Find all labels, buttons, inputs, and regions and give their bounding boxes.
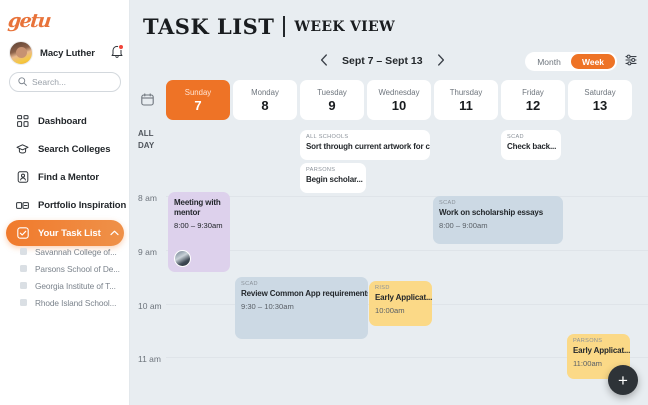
sidebar-item-label: Dashboard [38, 116, 87, 127]
bullet-icon [20, 282, 27, 289]
hour-label: 8 am [138, 193, 157, 203]
sidebar-item-label: Find a Mentor [38, 172, 99, 183]
logo-text: getu [7, 10, 51, 32]
event-tag: SCAD [507, 134, 556, 140]
plus-icon: + [618, 372, 628, 389]
bullet-icon [20, 265, 27, 272]
main-content: TASK LIST WEEK VIEW Sept 7 – Sept 13 Mon… [130, 0, 648, 405]
list-item[interactable]: Rhode Island School... [0, 294, 130, 311]
event-time: 8:00 – 9:00am [439, 221, 558, 230]
event-time: 10:00am [375, 306, 427, 315]
user-profile[interactable]: Macy Luther [9, 40, 124, 66]
event-tag: SCAD [439, 200, 558, 206]
sidebar-item-search-colleges[interactable]: Search Colleges [6, 136, 124, 162]
mentor-person-icon [16, 171, 29, 184]
notification-dot [118, 44, 124, 50]
app-root: getu Macy Luther [0, 0, 648, 405]
event-title: Check back... [507, 142, 556, 152]
event-work-scholarship-essays[interactable]: SCAD Work on scholarship essays 8:00 – 9… [433, 196, 563, 244]
bullet-icon [20, 299, 27, 306]
event-time: 9:30 – 10:30am [241, 302, 363, 311]
list-item[interactable]: Parsons School of De... [0, 260, 130, 277]
hour-label: 11 am [138, 354, 161, 364]
grid-line [166, 250, 648, 251]
event-tag: PARSONS [306, 167, 361, 173]
event-review-common-app[interactable]: SCAD Review Common App requirements 9:30… [235, 277, 368, 339]
sublist-item-label: Georgia Institute of T... [35, 281, 116, 291]
avatar [9, 41, 33, 65]
avatar [174, 250, 191, 267]
event-title: Begin scholar... [306, 175, 361, 185]
event-tag: PARSONS [573, 338, 625, 344]
app-logo[interactable]: getu [8, 8, 64, 34]
allday-event-begin-scholarship[interactable]: PARSONS Begin scholar... [300, 163, 366, 193]
event-title: Early Applicat... [573, 346, 625, 356]
hour-label: 10 am [138, 301, 162, 311]
chevron-up-icon[interactable] [110, 228, 119, 238]
event-time: 8:00 – 9:30am [174, 221, 225, 230]
sidebar-item-dashboard[interactable]: Dashboard [6, 108, 124, 134]
sidebar: getu Macy Luther [0, 0, 130, 405]
sidebar-item-label: Portfolio Inspiration [38, 200, 126, 211]
sidebar-nav: Dashboard Search Colleges [0, 108, 130, 248]
event-meeting-with-mentor[interactable]: Meeting with mentor 8:00 – 9:30am [168, 192, 230, 272]
sublist-item-label: Rhode Island School... [35, 298, 116, 308]
user-name: Macy Luther [40, 48, 95, 59]
search-input[interactable] [32, 77, 112, 87]
event-title: Work on scholarship essays [439, 208, 558, 218]
search-icon [18, 73, 27, 91]
event-title: Early Applicat... [375, 293, 427, 303]
event-title: Meeting with mentor [174, 198, 226, 218]
list-item[interactable]: Georgia Institute of T... [0, 277, 130, 294]
event-tag: RISD [375, 285, 427, 291]
sidebar-item-label: Your Task List [38, 228, 101, 239]
task-list-sublist: Savannah College of... Parsons School of… [0, 243, 130, 311]
portfolio-image-icon [16, 199, 29, 212]
event-tag: SCAD [241, 281, 363, 287]
sublist-item-label: Parsons School of De... [35, 264, 120, 274]
allday-event-check-back[interactable]: SCAD Check back... [501, 130, 561, 160]
bell-icon[interactable] [110, 44, 124, 59]
event-title: Sort through current artwork for co... [306, 142, 425, 152]
hour-label: 9 am [138, 247, 157, 257]
list-item[interactable]: Savannah College of... [0, 243, 130, 260]
graduation-cap-icon [16, 143, 29, 156]
sidebar-item-portfolio-inspiration[interactable]: Portfolio Inspiration [6, 192, 124, 218]
bullet-icon [20, 248, 27, 255]
sidebar-item-find-mentor[interactable]: Find a Mentor [6, 164, 124, 190]
search-box[interactable] [9, 72, 121, 92]
dashboard-grid-icon [16, 115, 29, 128]
event-title: Review Common App requirements [241, 289, 363, 299]
checkbox-icon [16, 227, 29, 240]
sidebar-item-label: Search Colleges [38, 144, 110, 155]
grid-line [166, 196, 648, 197]
event-tag: ALL SCHOOLS [306, 134, 425, 140]
calendar-grid: 8 am 9 am 10 am 11 am ALL SCHOOLS Sort t… [130, 0, 648, 405]
add-task-button[interactable]: + [608, 365, 638, 395]
sublist-item-label: Savannah College of... [35, 247, 117, 257]
allday-event-sort-artwork[interactable]: ALL SCHOOLS Sort through current artwork… [300, 130, 430, 160]
event-risd-early-application[interactable]: RISD Early Applicat... 10:00am [369, 281, 432, 326]
